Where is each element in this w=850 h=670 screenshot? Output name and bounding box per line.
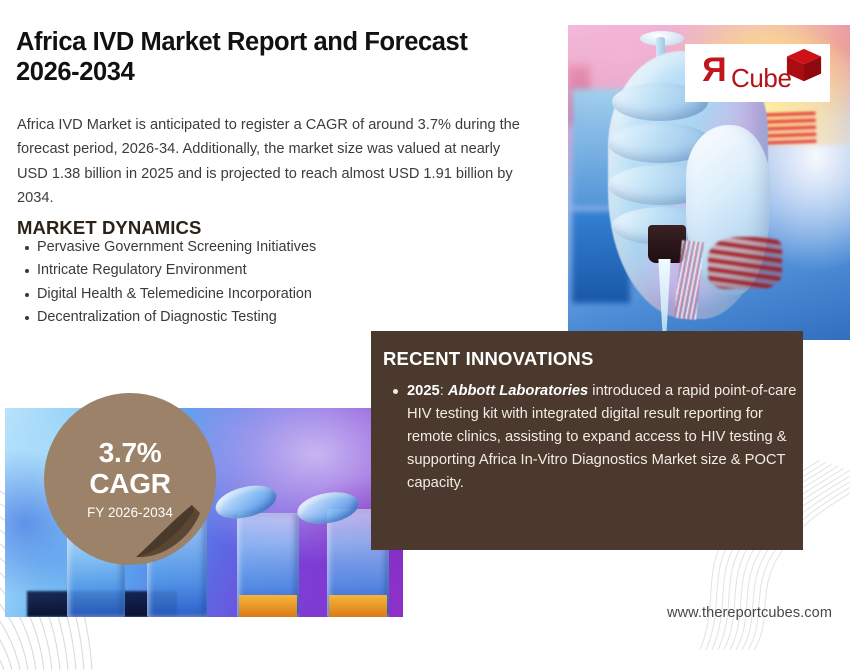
intro-paragraph: Africa IVD Market is anticipated to regi… [17, 113, 535, 211]
title-line-1: Africa IVD Market Report and Forecast [16, 28, 467, 56]
list-item: Pervasive Government Screening Initiativ… [37, 236, 477, 259]
list-item: Digital Health & Telemedicine Incorporat… [37, 283, 477, 306]
recent-innovations-panel: RECENT INNOVATIONS 2025: Abbott Laborato… [371, 331, 803, 550]
footer-website-url[interactable]: www.thereportcubes.com [667, 605, 832, 621]
logo-wordmark: Cube [731, 64, 792, 92]
innovation-separator: : [440, 383, 448, 399]
photo-red-stripes-lower [708, 237, 782, 289]
brand-logo[interactable]: R Cube [685, 44, 830, 102]
list-item: Decentralization of Diagnostic Testing [37, 306, 477, 329]
cagr-period: FY 2026-2034 [87, 504, 173, 522]
vial-amber-liquid [239, 595, 297, 617]
red-cube-icon [785, 47, 823, 85]
cagr-badge: 3.7% CAGR FY 2026-2034 [44, 393, 216, 565]
market-dynamics-list: Pervasive Government Screening Initiativ… [17, 236, 477, 329]
cagr-percent: 3.7% [99, 437, 162, 468]
innovation-year: 2025 [407, 383, 440, 399]
logo-reversed-r-icon: R [702, 52, 727, 88]
recent-innovations-list: 2025: Abbott Laboratories introduced a r… [383, 380, 807, 495]
list-item: 2025: Abbott Laboratories introduced a r… [407, 380, 807, 495]
innovation-company: Abbott Laboratories [448, 383, 588, 399]
title-line-2: 2026-2034 [16, 57, 546, 87]
page-title: Africa IVD Market Report and Forecast 20… [16, 27, 546, 87]
list-item: Intricate Regulatory Environment [37, 259, 477, 282]
vial-amber-liquid [329, 595, 387, 617]
innovation-text: introduced a rapid point-of-care HIV tes… [407, 383, 796, 491]
recent-innovations-heading: RECENT INNOVATIONS [383, 348, 594, 370]
cagr-label: CAGR [89, 468, 170, 499]
